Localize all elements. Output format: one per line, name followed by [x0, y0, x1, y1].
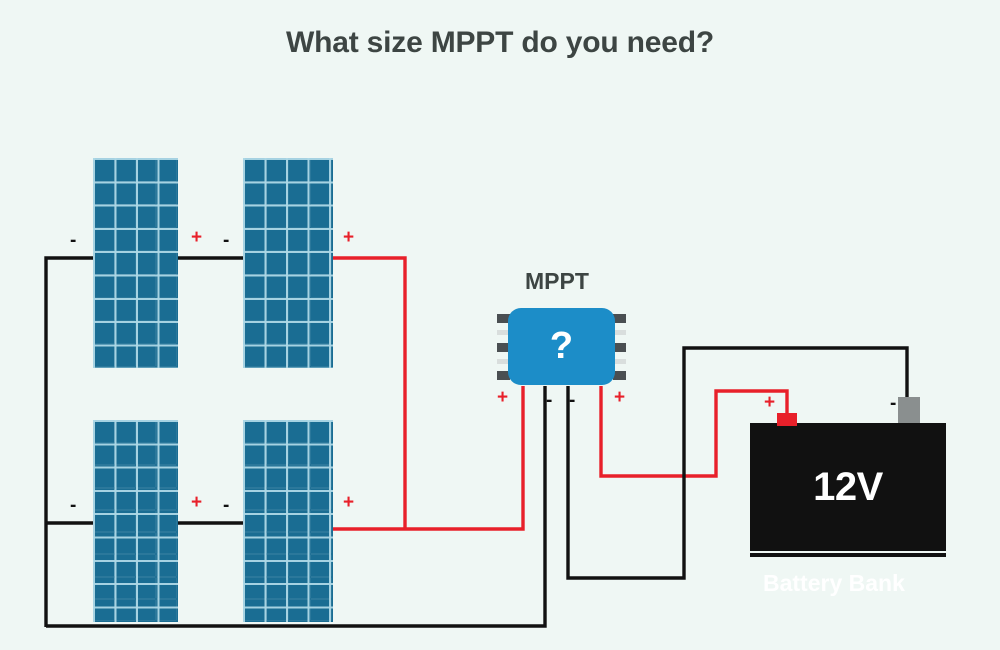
solar-cell: [289, 466, 309, 486]
solar-cell: [116, 600, 135, 620]
solar-cell: [311, 206, 331, 227]
solar-cell: [157, 444, 176, 464]
solar-cell: [95, 229, 114, 250]
battery-bank-body[interactable]: 12V: [750, 423, 946, 551]
diagram-canvas: What size MPPT do you need? - + -: [0, 0, 1000, 650]
solar-cell: [157, 422, 176, 442]
solar-cell: [137, 252, 156, 273]
solar-cell: [267, 422, 287, 442]
wire-top-string-positive: [333, 258, 405, 529]
solar-cell: [245, 229, 265, 250]
solar-cell: [95, 183, 114, 204]
solar-cell: [267, 206, 287, 227]
solar-cell: [116, 160, 135, 181]
solar-cell: [95, 422, 114, 442]
solar-cell: [311, 299, 331, 320]
solar-cell: [267, 345, 287, 366]
solar-cell: [311, 322, 331, 343]
polarity-marker-top-left-negative: -: [70, 231, 76, 250]
solar-cell: [289, 555, 309, 575]
solar-cell: [95, 252, 114, 273]
battery-terminal-positive[interactable]: [777, 413, 797, 426]
polarity-marker-bottom-left-positive: +: [191, 493, 202, 512]
solar-cell: [157, 533, 176, 553]
solar-cell: [245, 160, 265, 181]
solar-cell: [95, 206, 114, 227]
solar-cell: [157, 276, 176, 297]
solar-cell: [116, 345, 135, 366]
solar-cell: [289, 322, 309, 343]
solar-cell: [267, 511, 287, 531]
solar-cell: [157, 299, 176, 320]
solar-cell: [245, 183, 265, 204]
solar-cell: [137, 555, 156, 575]
solar-cell: [289, 600, 309, 620]
solar-cell: [245, 600, 265, 620]
solar-cell: [289, 229, 309, 250]
solar-cell: [289, 511, 309, 531]
solar-cell: [137, 229, 156, 250]
polarity-marker-top-right-negative: -: [223, 231, 229, 250]
solar-cell: [289, 444, 309, 464]
mppt-terminal-battery-positive: +: [614, 388, 625, 407]
solar-cell: [95, 578, 114, 598]
solar-cell: [245, 299, 265, 320]
solar-cell: [95, 299, 114, 320]
solar-cell: [137, 160, 156, 181]
solar-cell: [116, 466, 135, 486]
solar-cell: [157, 600, 176, 620]
solar-cell: [157, 229, 176, 250]
solar-cell: [267, 533, 287, 553]
solar-cell: [311, 276, 331, 297]
solar-cell: [311, 444, 331, 464]
solar-cell: [116, 578, 135, 598]
solar-cell: [116, 229, 135, 250]
wire-bottom-string-positive: [333, 386, 523, 529]
mppt-terminal-pv-negative: -: [546, 391, 552, 410]
battery-polarity-positive: +: [764, 393, 775, 412]
solar-cell: [95, 555, 114, 575]
solar-cell: [245, 206, 265, 227]
mppt-controller-body[interactable]: ?: [508, 308, 615, 385]
solar-cell: [245, 555, 265, 575]
solar-cell: [157, 252, 176, 273]
solar-cell: [137, 322, 156, 343]
solar-cell: [245, 489, 265, 509]
solar-cell: [267, 555, 287, 575]
solar-cell: [267, 322, 287, 343]
solar-cell: [267, 276, 287, 297]
solar-cell: [95, 466, 114, 486]
solar-cell: [245, 511, 265, 531]
solar-cell: [311, 533, 331, 553]
mppt-label: MPPT: [525, 268, 589, 295]
battery-base-strip: [750, 553, 946, 557]
solar-cell: [289, 578, 309, 598]
solar-cell: [95, 276, 114, 297]
solar-cell: [116, 555, 135, 575]
solar-cell: [95, 322, 114, 343]
solar-cell: [311, 578, 331, 598]
solar-cell: [267, 252, 287, 273]
solar-cell: [267, 444, 287, 464]
solar-cell: [157, 466, 176, 486]
solar-cell: [95, 511, 114, 531]
solar-cell: [311, 229, 331, 250]
polarity-marker-top-right-positive: +: [343, 228, 354, 247]
solar-cell: [289, 160, 309, 181]
solar-cell: [311, 252, 331, 273]
solar-cell: [157, 322, 176, 343]
solar-cell: [137, 299, 156, 320]
solar-cell: [289, 252, 309, 273]
solar-cell: [267, 229, 287, 250]
solar-cell: [245, 322, 265, 343]
wire-top-left-negative-rail: [46, 258, 93, 627]
solar-panel-top-left[interactable]: [93, 158, 178, 368]
solar-cell: [116, 183, 135, 204]
solar-cell: [245, 422, 265, 442]
mppt-question-mark: ?: [550, 327, 573, 365]
solar-cell: [137, 489, 156, 509]
solar-cell: [245, 345, 265, 366]
mppt-terminal-pv-positive: +: [497, 388, 508, 407]
solar-cell: [116, 489, 135, 509]
solar-cell: [311, 600, 331, 620]
solar-cell: [116, 422, 135, 442]
solar-cell: [311, 422, 331, 442]
solar-cell: [311, 466, 331, 486]
solar-cell: [116, 444, 135, 464]
battery-terminal-negative[interactable]: [898, 397, 920, 423]
solar-cell: [311, 160, 331, 181]
solar-cell: [289, 345, 309, 366]
solar-cell: [157, 160, 176, 181]
solar-cell: [311, 511, 331, 531]
solar-cell: [116, 299, 135, 320]
solar-cell: [95, 444, 114, 464]
solar-cell: [157, 206, 176, 227]
solar-cell: [137, 466, 156, 486]
battery-bank-label: Battery Bank: [763, 570, 905, 597]
polarity-marker-bottom-right-negative: -: [223, 496, 229, 515]
solar-cell: [311, 489, 331, 509]
polarity-marker-bottom-left-negative: -: [70, 496, 76, 515]
solar-cell: [137, 276, 156, 297]
solar-cell: [157, 555, 176, 575]
solar-cell: [311, 345, 331, 366]
solar-cell: [116, 252, 135, 273]
solar-cell: [267, 578, 287, 598]
solar-cell: [289, 299, 309, 320]
solar-cell: [95, 160, 114, 181]
solar-cell: [289, 422, 309, 442]
solar-cell: [157, 345, 176, 366]
solar-cell: [137, 511, 156, 531]
solar-cell: [95, 533, 114, 553]
solar-cell: [289, 183, 309, 204]
solar-cell: [157, 578, 176, 598]
solar-cell: [95, 489, 114, 509]
solar-cell: [267, 600, 287, 620]
solar-cell: [137, 345, 156, 366]
solar-cell: [289, 276, 309, 297]
solar-cell: [137, 422, 156, 442]
solar-cell: [267, 183, 287, 204]
solar-cell: [157, 183, 176, 204]
mppt-terminal-battery-negative: -: [569, 391, 575, 410]
solar-cell: [95, 345, 114, 366]
solar-cell: [137, 206, 156, 227]
solar-cell: [157, 489, 176, 509]
solar-cell: [116, 206, 135, 227]
solar-cell: [311, 555, 331, 575]
solar-cell: [245, 276, 265, 297]
solar-cell: [267, 160, 287, 181]
solar-cell: [116, 511, 135, 531]
solar-cell: [245, 444, 265, 464]
solar-cell: [289, 533, 309, 553]
solar-cell: [245, 578, 265, 598]
solar-cell: [289, 489, 309, 509]
solar-cell: [116, 533, 135, 553]
solar-cell: [289, 206, 309, 227]
solar-panel-bottom-right[interactable]: [243, 420, 333, 622]
battery-polarity-negative: -: [890, 394, 896, 413]
solar-cell: [267, 466, 287, 486]
solar-cell: [137, 183, 156, 204]
polarity-marker-top-left-positive: +: [191, 228, 202, 247]
solar-panel-top-right[interactable]: [243, 158, 333, 368]
solar-cell: [267, 489, 287, 509]
solar-cell: [137, 444, 156, 464]
solar-cell: [116, 322, 135, 343]
solar-cell: [95, 600, 114, 620]
solar-cell: [157, 511, 176, 531]
solar-cell: [116, 276, 135, 297]
solar-cell: [245, 466, 265, 486]
solar-cell: [267, 299, 287, 320]
solar-cell: [137, 600, 156, 620]
solar-cell: [311, 183, 331, 204]
battery-voltage-label: 12V: [813, 465, 883, 510]
polarity-marker-bottom-right-positive: +: [343, 493, 354, 512]
solar-cell: [245, 252, 265, 273]
solar-cell: [137, 533, 156, 553]
solar-panel-bottom-left[interactable]: [93, 420, 178, 622]
solar-cell: [245, 533, 265, 553]
solar-cell: [137, 578, 156, 598]
